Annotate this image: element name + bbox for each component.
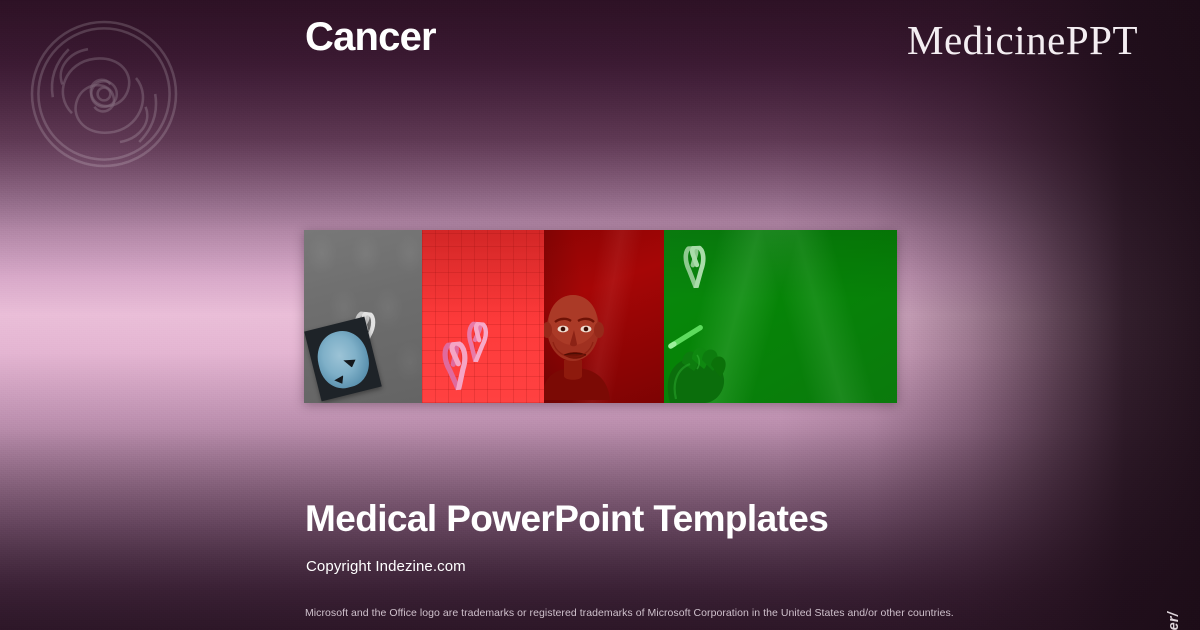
pink-ribbon-panel[interactable] — [422, 230, 544, 403]
template-preview-strip[interactable] — [304, 230, 897, 403]
copyright-label: Copyright Indezine.com — [306, 558, 466, 575]
patient-portrait-panel[interactable] — [544, 230, 664, 403]
promo-banner: Cancer MedicinePPT medicineppt.com/templ… — [0, 0, 1200, 630]
awareness-ribbon-icon — [436, 340, 477, 392]
trademark-disclaimer: Microsoft and the Office logo are tradem… — [305, 607, 954, 619]
hand-with-cigarette-image — [664, 311, 759, 403]
awareness-ribbon-icon — [678, 245, 712, 289]
vertical-url-label[interactable]: medicineppt.com/template/categories/dise… — [1166, 612, 1182, 630]
brand-logo[interactable]: MedicinePPT — [907, 20, 1138, 61]
page-title: Cancer — [305, 17, 436, 57]
smoking-hand-panel[interactable] — [664, 230, 897, 403]
patient-portrait-image — [544, 280, 618, 400]
brain-scan-panel[interactable] — [304, 230, 422, 403]
footer-title: Medical PowerPoint Templates — [305, 500, 828, 537]
